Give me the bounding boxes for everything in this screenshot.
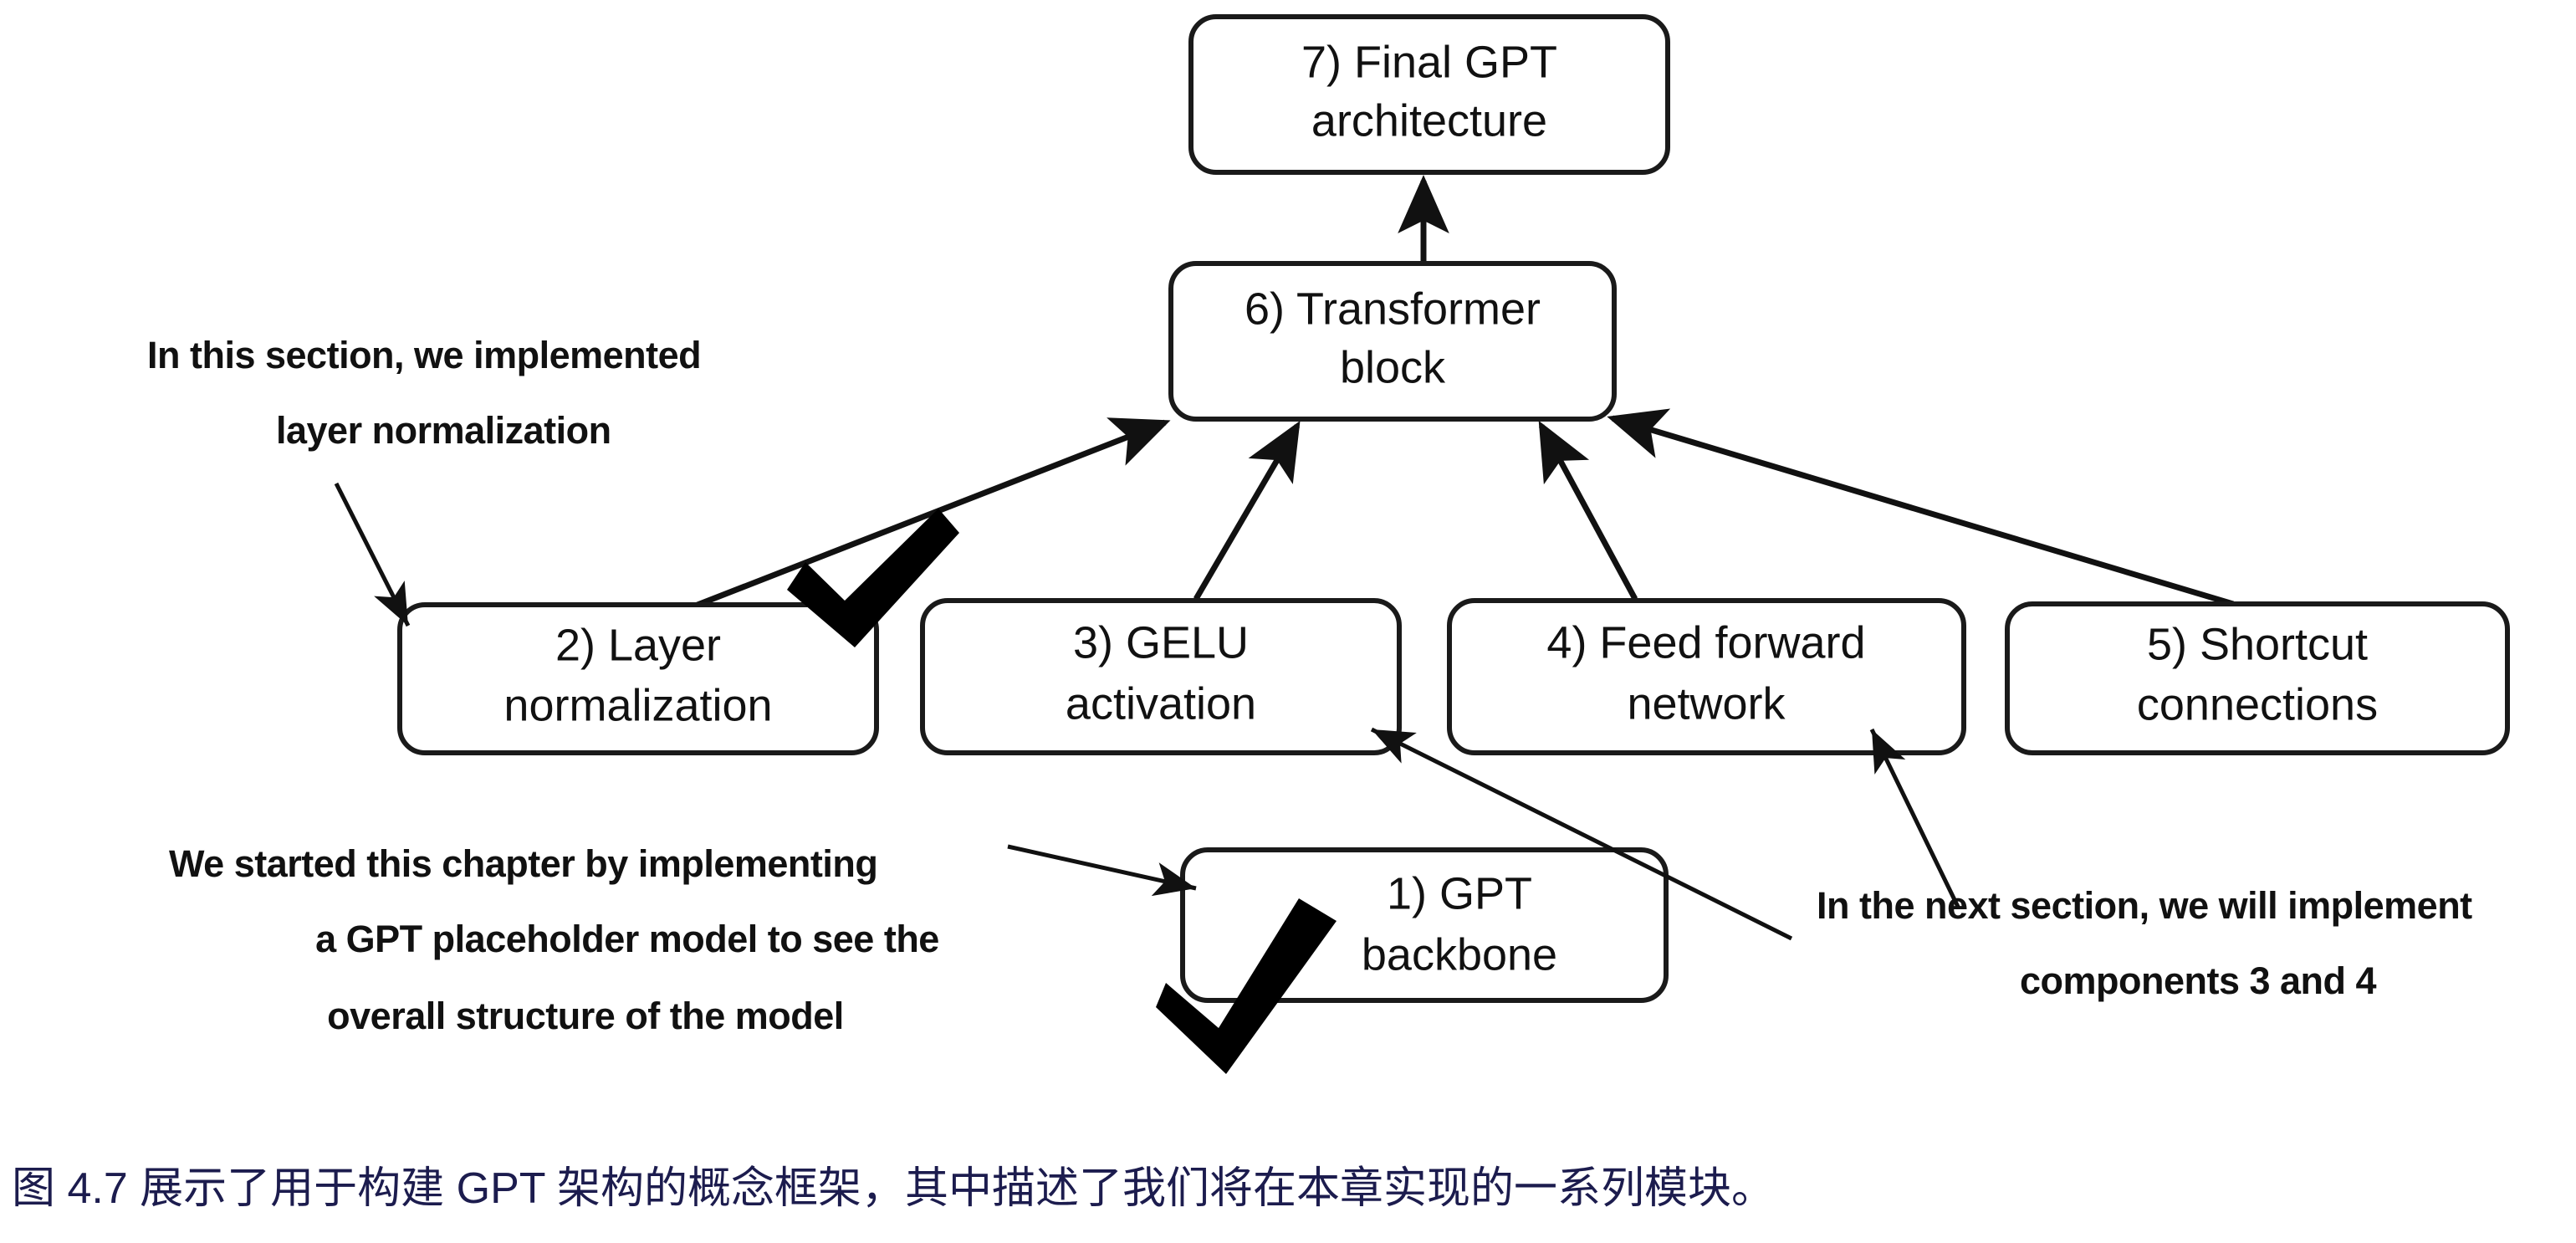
annot-next-section-line2: components 3 and 4 bbox=[2020, 959, 2377, 1002]
node-shortcut-connections[interactable]: 5) Shortcut connections bbox=[2007, 604, 2507, 753]
annotation-next-section-note: In the next section, we will implement c… bbox=[1817, 884, 2472, 1002]
node-feed-forward-network-line1: 4) Feed forward bbox=[1546, 617, 1865, 668]
node-feed-forward-network-line2: network bbox=[1627, 678, 1786, 729]
node-final-gpt-architecture-line1: 7) Final GPT bbox=[1301, 37, 1557, 87]
node-final-gpt-architecture-line2: architecture bbox=[1311, 95, 1547, 146]
annot-next-section-line1: In the next section, we will implement bbox=[1817, 884, 2472, 927]
node-gelu-activation[interactable]: 3) GELU activation bbox=[923, 601, 1399, 753]
leader-gpt-backbone-note bbox=[1008, 847, 1196, 888]
figure-canvas: 7) Final GPT architecture 6) Transformer… bbox=[0, 0, 2576, 1243]
node-gpt-backbone-line2: backbone bbox=[1362, 929, 1557, 980]
node-transformer-block[interactable]: 6) Transformer block bbox=[1171, 263, 1614, 419]
annot-gpt-backbone-line3: overall structure of the model bbox=[327, 995, 844, 1037]
annot-layernorm-line2: layer normalization bbox=[276, 409, 611, 452]
node-gelu-activation-line2: activation bbox=[1066, 678, 1256, 729]
leader-layernorm-note bbox=[336, 483, 408, 626]
node-layer-normalization[interactable]: 2) Layer normalization bbox=[400, 605, 877, 753]
node-transformer-block-line1: 6) Transformer bbox=[1245, 284, 1541, 334]
leader-next-section-to-feedforward bbox=[1872, 729, 1959, 908]
node-shortcut-connections-line2: connections bbox=[2137, 679, 2378, 729]
node-layer-normalization-line1: 2) Layer bbox=[555, 620, 721, 670]
annot-gpt-backbone-line2: a GPT placeholder model to see the bbox=[315, 918, 939, 960]
node-feed-forward-network[interactable]: 4) Feed forward network bbox=[1449, 601, 1964, 753]
node-transformer-block-line2: block bbox=[1340, 342, 1446, 392]
annotation-layer-normalization-note: In this section, we implemented layer no… bbox=[147, 334, 701, 452]
arrow-layernorm-to-transformer bbox=[644, 422, 1165, 626]
annot-gpt-backbone-line1: We started this chapter by implementing bbox=[169, 842, 877, 885]
node-shortcut-connections-line1: 5) Shortcut bbox=[2147, 619, 2368, 669]
arrow-shortcut-to-transformer bbox=[1613, 418, 2233, 604]
node-gpt-backbone-line1: 1) GPT bbox=[1387, 868, 1532, 918]
node-layer-normalization-line2: normalization bbox=[503, 680, 772, 730]
annotation-gpt-backbone-note: We started this chapter by implementing … bbox=[169, 842, 939, 1037]
arrow-feedforward-to-transformer bbox=[1541, 426, 1635, 599]
node-gelu-activation-line1: 3) GELU bbox=[1073, 617, 1249, 668]
annot-layernorm-line1: In this section, we implemented bbox=[147, 334, 701, 376]
arrow-gelu-to-transformer bbox=[1196, 426, 1297, 599]
concept-flow-diagram: 7) Final GPT architecture 6) Transformer… bbox=[0, 0, 2576, 1243]
figure-caption: 图 4.7 展示了用于构建 GPT 架构的概念框架，其中描述了我们将在本章实现的… bbox=[12, 1153, 2563, 1215]
node-final-gpt-architecture[interactable]: 7) Final GPT architecture bbox=[1191, 17, 1668, 172]
